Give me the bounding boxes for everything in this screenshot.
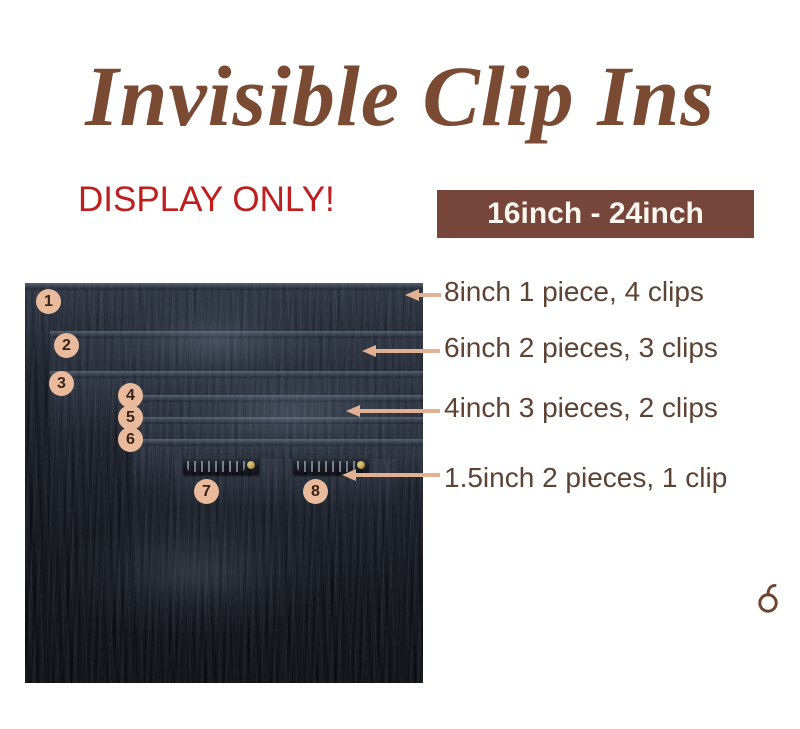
brand-logo-mark [757,583,779,613]
piece-number-label: 2 [62,338,71,354]
arrow-shaft [417,293,441,297]
piece-number-label: 6 [126,432,135,448]
piece-number-badge-3: 3 [49,371,74,396]
piece-number-badge-6: 6 [118,427,143,452]
piece-number-badge-8: 8 [303,479,328,504]
callout-arrow-8inch [405,292,441,298]
annotation-label-4inch: 4inch 3 pieces, 2 clips [444,392,718,424]
clip-teeth [187,461,245,472]
callout-arrow-1point5inch [342,472,440,478]
arrow-head [342,469,356,481]
piece-number-badge-7: 7 [194,479,219,504]
piece-number-label: 4 [126,388,135,404]
arrow-head [346,405,360,417]
infographic-canvas: Invisible Clip Ins DISPLAY ONLY! 16inch … [0,0,800,729]
weft-edge-6inch-b [50,371,423,378]
size-range-badge: 16inch - 24inch [437,190,754,238]
product-photo [25,283,423,683]
weft-edge-4inch-a [133,395,423,402]
arrow-shaft [374,349,440,353]
piece-number-badge-1: 1 [36,289,61,314]
callout-arrow-4inch [346,408,440,414]
annotation-label-1point5inch: 1.5inch 2 pieces, 1 clip [444,462,727,494]
arrow-shaft [354,473,440,477]
arrow-shaft [358,409,440,413]
callout-arrow-6inch [362,348,440,354]
arrow-head [362,345,376,357]
clip-screw [357,461,365,469]
size-range-label: 16inch - 24inch [487,198,704,230]
weft-edge-6inch-a [50,331,423,338]
arrow-head [405,289,419,301]
piece-number-label: 8 [311,484,320,500]
clip-screw [247,461,255,469]
weft-1point5inch-a [175,459,283,683]
display-only-notice: DISPLAY ONLY! [78,180,335,220]
hair-clip-7 [183,455,259,475]
piece-number-label: 1 [44,294,53,310]
piece-number-badge-2: 2 [54,333,79,358]
page-title: Invisible Clip Ins [0,48,800,144]
weft-edge-8inch [25,283,423,290]
annotation-label-8inch: 8inch 1 piece, 4 clips [444,276,704,308]
piece-number-label: 3 [57,376,66,392]
piece-number-label: 5 [126,410,135,426]
annotation-label-6inch: 6inch 2 pieces, 3 clips [444,332,718,364]
weft-edge-4inch-b [133,417,423,424]
weft-edge-4inch-c [133,439,423,446]
piece-number-label: 7 [202,484,211,500]
